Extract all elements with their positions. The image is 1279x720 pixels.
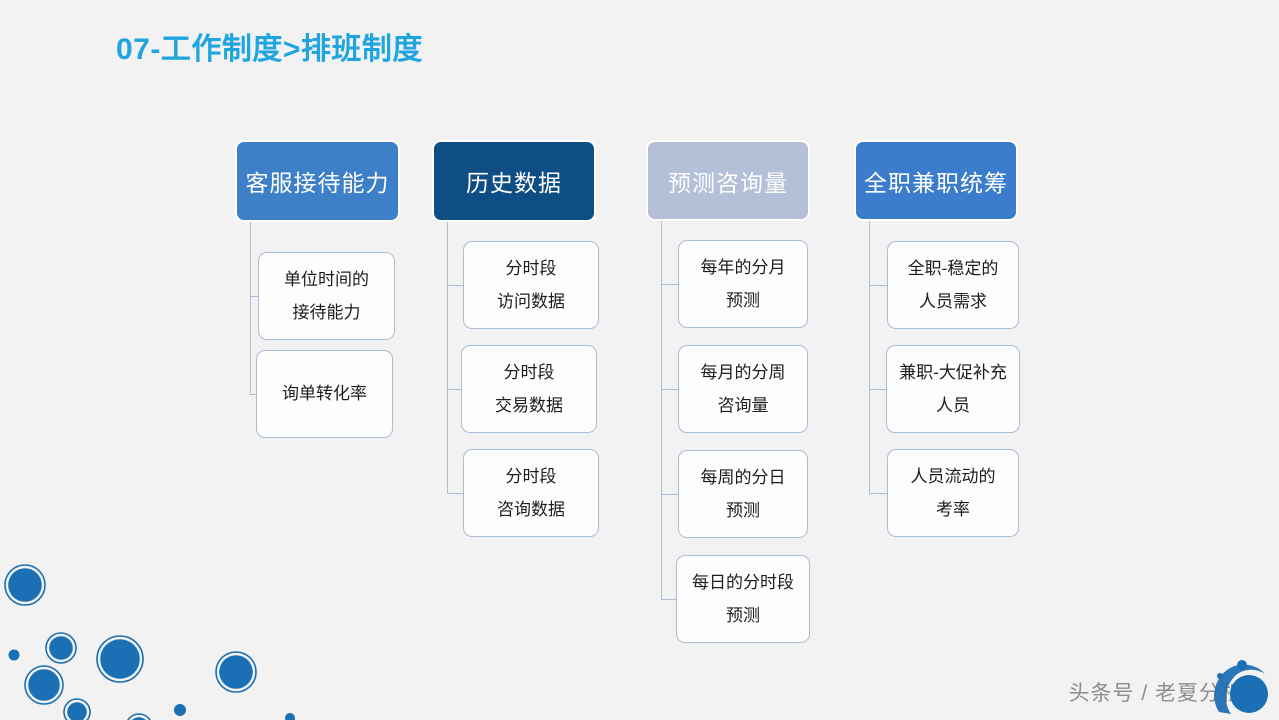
child-node-line: 分时段 — [506, 460, 557, 493]
child-node-1-1[interactable]: 分时段交易数据 — [461, 345, 597, 433]
child-node-line: 预测 — [726, 494, 760, 527]
connector-trunk-3 — [869, 221, 870, 493]
child-node-line: 分时段 — [504, 356, 555, 389]
connector-trunk-0 — [250, 222, 251, 394]
child-node-line: 全职-稳定的 — [908, 252, 999, 285]
connector-stub-3-0 — [869, 285, 887, 286]
child-node-1-2[interactable]: 分时段咨询数据 — [463, 449, 599, 537]
child-node-line: 预测 — [726, 599, 760, 632]
child-node-line: 每周的分日 — [701, 461, 786, 494]
node-header-0[interactable]: 客服接待能力 — [235, 140, 400, 222]
child-node-line: 人员需求 — [919, 285, 987, 318]
connector-stub-3-2 — [869, 493, 887, 494]
slide-canvas: 07-工作制度>排班制度 客服接待能力单位时间的接待能力询单转化率历史数据分时段… — [0, 0, 1279, 720]
child-node-line: 交易数据 — [495, 389, 563, 422]
node-header-1[interactable]: 历史数据 — [432, 140, 596, 222]
connector-stub-1-1 — [447, 389, 461, 390]
child-node-line: 兼职-大促补充 — [899, 356, 1007, 389]
child-node-3-1[interactable]: 兼职-大促补充人员 — [886, 345, 1020, 433]
node-header-2[interactable]: 预测咨询量 — [646, 140, 810, 221]
connector-stub-2-2 — [661, 494, 678, 495]
child-node-2-2[interactable]: 每周的分日预测 — [678, 450, 808, 538]
child-node-line: 咨询量 — [718, 389, 769, 422]
child-node-line: 单位时间的 — [284, 263, 369, 296]
child-node-line: 接待能力 — [293, 296, 361, 329]
connector-trunk-2 — [661, 221, 662, 599]
child-node-2-0[interactable]: 每年的分月预测 — [678, 240, 808, 328]
child-node-line: 访问数据 — [497, 285, 565, 318]
connector-stub-2-1 — [661, 389, 678, 390]
connector-stub-3-1 — [869, 389, 886, 390]
child-node-3-2[interactable]: 人员流动的考率 — [887, 449, 1019, 537]
child-node-3-0[interactable]: 全职-稳定的人员需求 — [887, 241, 1019, 329]
node-header-3[interactable]: 全职兼职统筹 — [854, 140, 1018, 221]
page-title: 07-工作制度>排班制度 — [116, 24, 423, 68]
watermark-logo-icon — [1209, 660, 1271, 716]
child-node-line: 人员流动的 — [911, 460, 996, 493]
child-node-line: 分时段 — [506, 252, 557, 285]
child-node-line: 询单转化率 — [282, 377, 367, 410]
child-node-2-1[interactable]: 每月的分周咨询量 — [678, 345, 808, 433]
child-node-line: 每日的分时段 — [692, 566, 794, 599]
connector-stub-2-3 — [661, 599, 676, 600]
child-node-line: 每月的分周 — [701, 356, 786, 389]
connector-stub-1-2 — [447, 493, 463, 494]
child-node-1-0[interactable]: 分时段访问数据 — [463, 241, 599, 329]
connector-stub-0-0 — [250, 296, 258, 297]
watermark: 头条号 / 老夏分析师 — [1068, 670, 1265, 714]
child-node-0-0[interactable]: 单位时间的接待能力 — [258, 252, 395, 340]
child-node-0-1[interactable]: 询单转化率 — [256, 350, 393, 438]
decorative-circles — [0, 520, 330, 720]
connector-stub-1-0 — [447, 285, 463, 286]
child-node-line: 人员 — [936, 389, 970, 422]
child-node-line: 预测 — [726, 284, 760, 317]
connector-stub-2-0 — [661, 284, 678, 285]
child-node-line: 咨询数据 — [497, 493, 565, 526]
child-node-line: 考率 — [936, 493, 970, 526]
child-node-line: 每年的分月 — [701, 251, 786, 284]
connector-trunk-1 — [447, 222, 448, 493]
child-node-2-3[interactable]: 每日的分时段预测 — [676, 555, 810, 643]
